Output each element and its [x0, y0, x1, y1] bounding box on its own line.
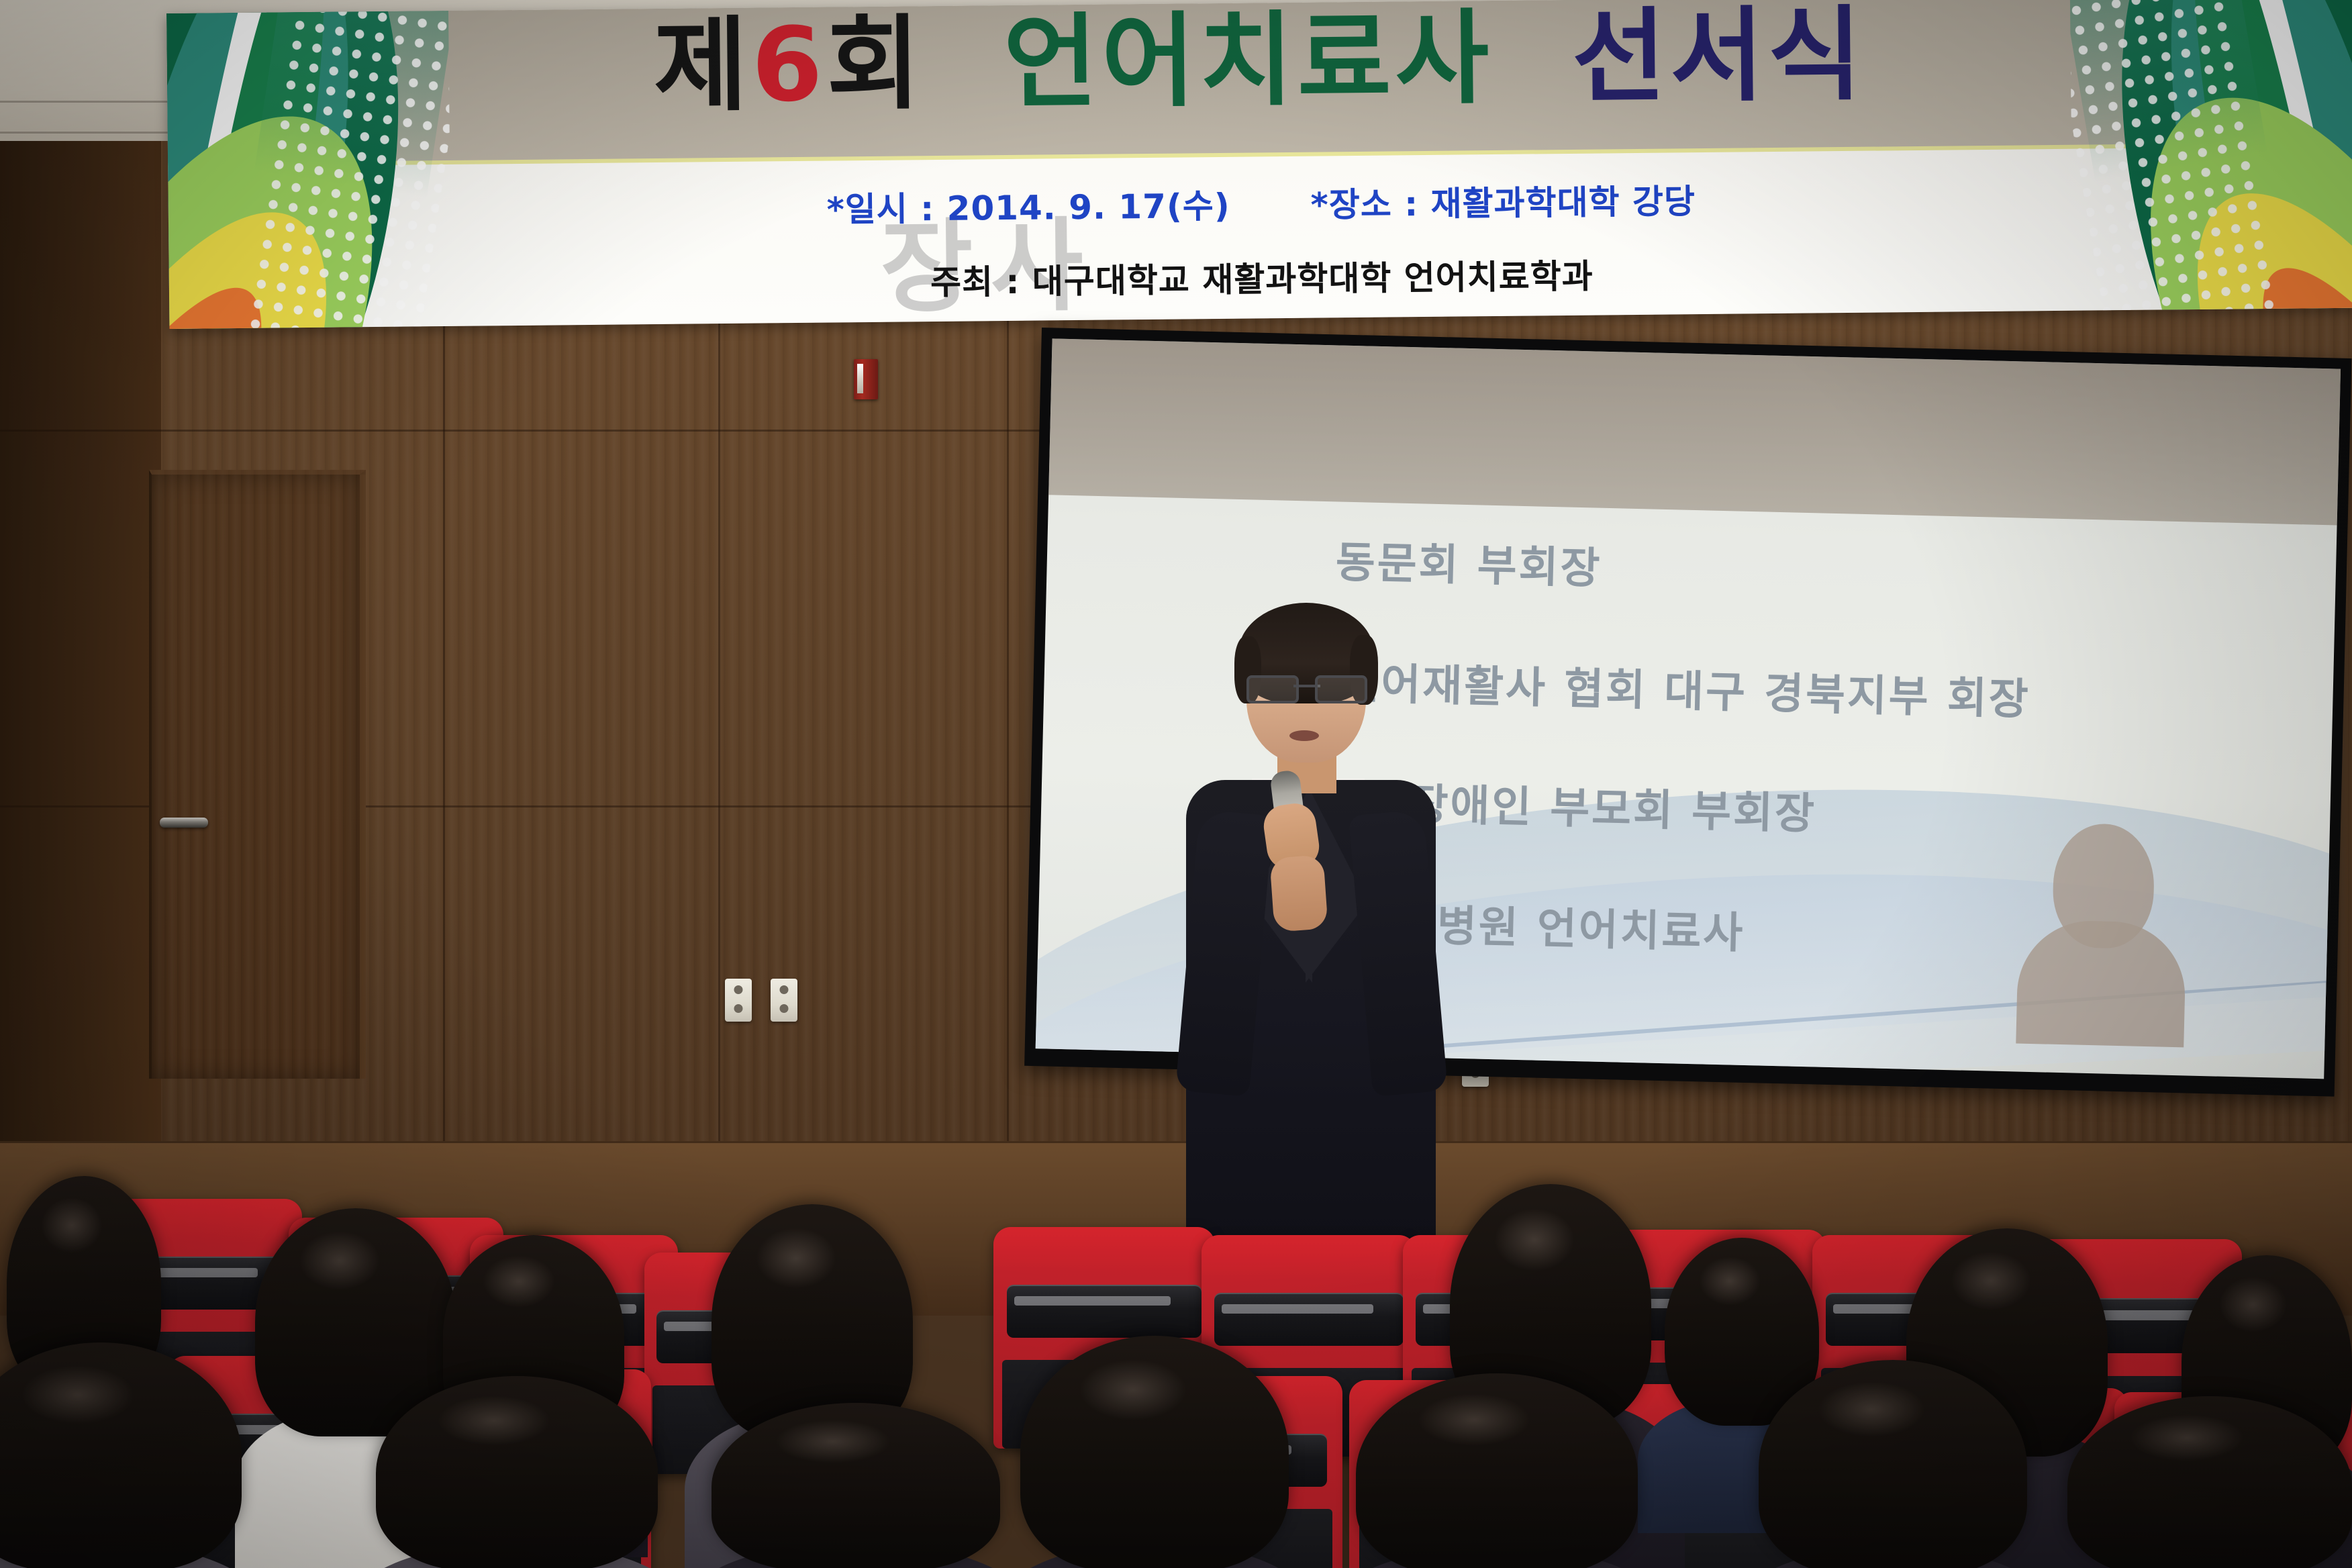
audience-member-head: [1020, 1336, 1289, 1568]
wall-outlet: [771, 979, 797, 1022]
speaker-mouth: [1289, 730, 1319, 741]
audience-member-head: [376, 1376, 658, 1568]
banner-title-number: 6: [751, 5, 827, 125]
door-handle[interactable]: [160, 818, 208, 828]
banner-title-event: 선서식: [1571, 0, 1866, 117]
wall-left-shadow: [0, 141, 161, 1168]
banner-title-prefix: 제: [653, 6, 752, 126]
banner-title-counter: 회: [826, 4, 926, 124]
glasses-icon: [1246, 675, 1367, 698]
banner-host-line: 주최 : 대구대학교 재활과학대학 언어치료학과: [169, 242, 2352, 311]
auditorium-photo: 제6회 언어치료사 선서식 장사 *일시 : 2014. 9. 17(수)*장소…: [0, 0, 2352, 1568]
audience-seating: [0, 1134, 2352, 1568]
audience-member-head: [2067, 1396, 2352, 1568]
banner-date-place-row: *일시 : 2014. 9. 17(수)*장소 : 재활과학대학 강당: [168, 168, 2352, 238]
event-banner: 제6회 언어치료사 선서식 장사 *일시 : 2014. 9. 17(수)*장소…: [166, 0, 2352, 329]
banner-place-line: *장소 : 재활과학대학 강당: [1310, 182, 1696, 225]
wall-outlet: [725, 979, 752, 1022]
audience-member-head: [1759, 1360, 2027, 1568]
audience-member-head: [1356, 1373, 1638, 1568]
fire-alarm-icon: [854, 359, 878, 399]
wall-panel-seam: [0, 430, 1047, 432]
banner-date-line: *일시 : 2014. 9. 17(수): [826, 187, 1230, 230]
side-door[interactable]: [149, 470, 366, 1079]
audience-member-head: [712, 1403, 1000, 1568]
speaker-hand: [1269, 854, 1328, 932]
banner-title: 제6회 언어치료사 선서식: [166, 0, 2352, 122]
slide-line: 동문회 부회장: [1335, 528, 1603, 595]
banner-title-subject: 언어치료사: [1003, 0, 1493, 122]
